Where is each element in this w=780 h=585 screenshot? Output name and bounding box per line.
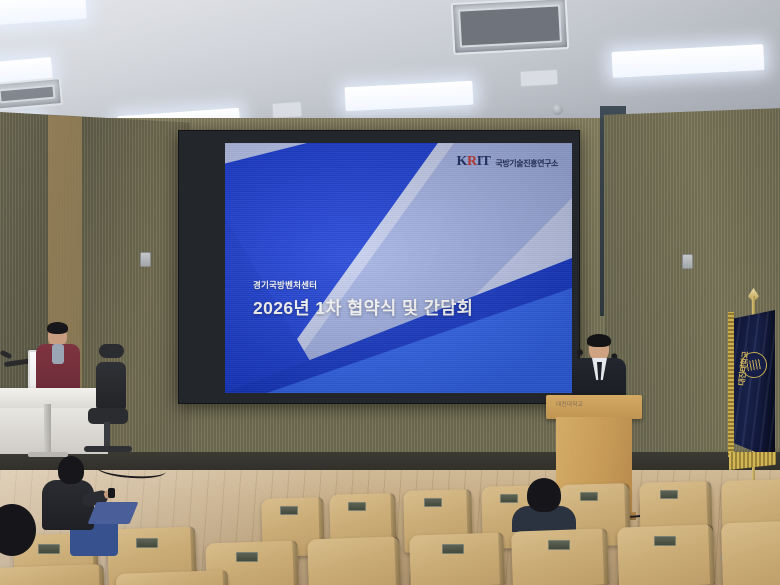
seat-number-plate	[38, 544, 60, 554]
ceiling-air-vent	[451, 0, 570, 55]
seat-number-plate	[348, 502, 366, 511]
speaker-hair	[587, 334, 611, 347]
office-chair-base	[84, 446, 132, 452]
seat-number-plate	[660, 490, 678, 499]
office-chair-headrest	[99, 344, 124, 358]
smartphone[interactable]	[108, 488, 115, 498]
seat-number-plate	[280, 506, 298, 515]
air-vent-grille	[0, 85, 56, 104]
seat-number-plate	[654, 536, 676, 546]
slide-title: 2026년 1차 협약식 및 간담회	[253, 295, 473, 320]
wall-outlet-plate[interactable]	[140, 252, 151, 267]
presentation-slide: KRIT 국방기술진흥연구소 경기국방벤처센터 2026년 1차 협약식 및 간…	[225, 143, 572, 393]
auditorium-scene: KRIT 국방기술진흥연구소 경기국방벤처센터 2026년 1차 협약식 및 간…	[0, 0, 780, 585]
audience-center-head	[527, 478, 561, 512]
operator-hair	[47, 322, 68, 334]
air-vent-grille	[458, 4, 562, 47]
auditorium-seat[interactable]	[511, 528, 609, 585]
ceiling-speaker	[552, 104, 563, 115]
ceiling-access-panel	[520, 69, 559, 87]
operator-shirt-collar	[52, 344, 64, 364]
seat-number-plate	[424, 498, 442, 507]
desk-foot	[28, 452, 68, 457]
office-chair-back	[96, 362, 126, 410]
auditorium-seat[interactable]	[307, 536, 401, 585]
seat-number-plate	[580, 492, 598, 501]
auditorium-seat[interactable]	[617, 524, 715, 585]
seat-number-plate	[548, 540, 570, 550]
krit-logo: KRIT 국방기술진흥연구소	[457, 155, 558, 169]
krit-logo-accent: R	[467, 154, 477, 169]
seat-number-plate	[500, 494, 518, 503]
auditorium-seat[interactable]	[721, 521, 780, 585]
wall-outlet-plate[interactable]	[682, 254, 693, 269]
seat-number-plate	[136, 538, 158, 548]
attendee-left-head	[58, 456, 84, 484]
podium-label: 대진대학교	[556, 400, 616, 408]
auditorium-seat[interactable]	[0, 564, 104, 585]
seat-number-plate	[442, 544, 464, 554]
krit-wordmark: KRIT	[457, 155, 491, 169]
desk-leg	[44, 404, 51, 456]
seat-number-plate	[236, 552, 258, 562]
flag-fringe-side	[728, 312, 734, 457]
krit-korean-name: 국방기술진흥연구소	[495, 160, 558, 169]
writing-tablet	[88, 502, 139, 524]
ceiling-access-panel	[271, 101, 302, 119]
auditorium-seat[interactable]	[409, 532, 505, 585]
slide-subtitle: 경기국방벤처센터	[253, 279, 317, 291]
projection-screen-frame: KRIT 국방기술진흥연구소 경기국방벤처센터 2026년 1차 협약식 및 간…	[178, 130, 580, 404]
